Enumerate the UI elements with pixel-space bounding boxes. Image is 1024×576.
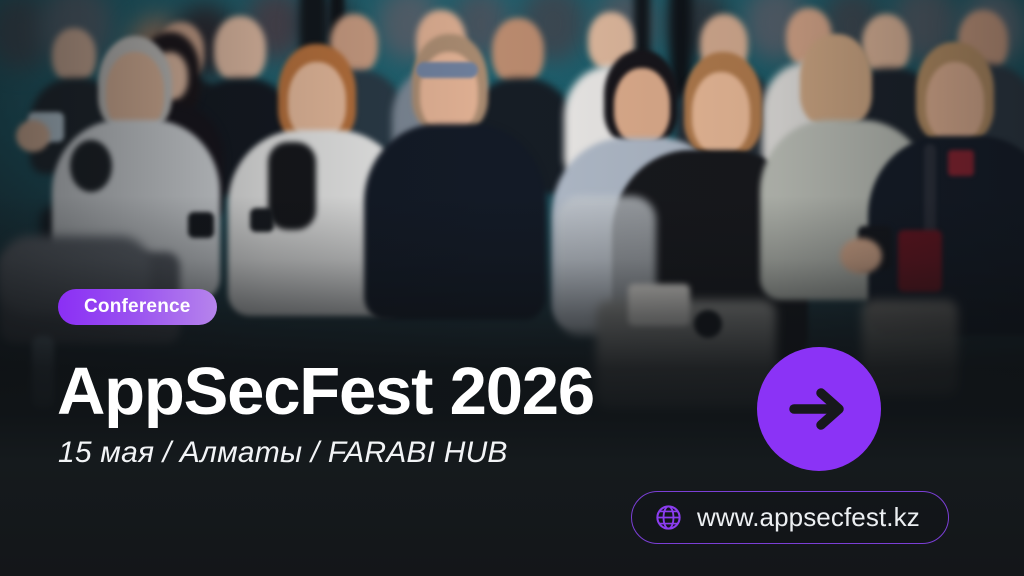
globe-icon (654, 503, 683, 532)
conference-badge: Conference (58, 289, 217, 325)
banner-content: Conference AppSecFest 2026 15 мая / Алма… (0, 0, 1024, 576)
event-banner: Conference AppSecFest 2026 15 мая / Алма… (0, 0, 1024, 576)
website-url-text: www.appsecfest.kz (697, 502, 920, 533)
cta-arrow-button[interactable] (757, 347, 881, 471)
website-url-pill[interactable]: www.appsecfest.kz (631, 491, 949, 544)
event-details-subtitle: 15 мая / Алматы / FARABI HUB (58, 436, 508, 470)
arrow-right-icon (788, 384, 850, 434)
page-title: AppSecFest 2026 (57, 358, 594, 425)
